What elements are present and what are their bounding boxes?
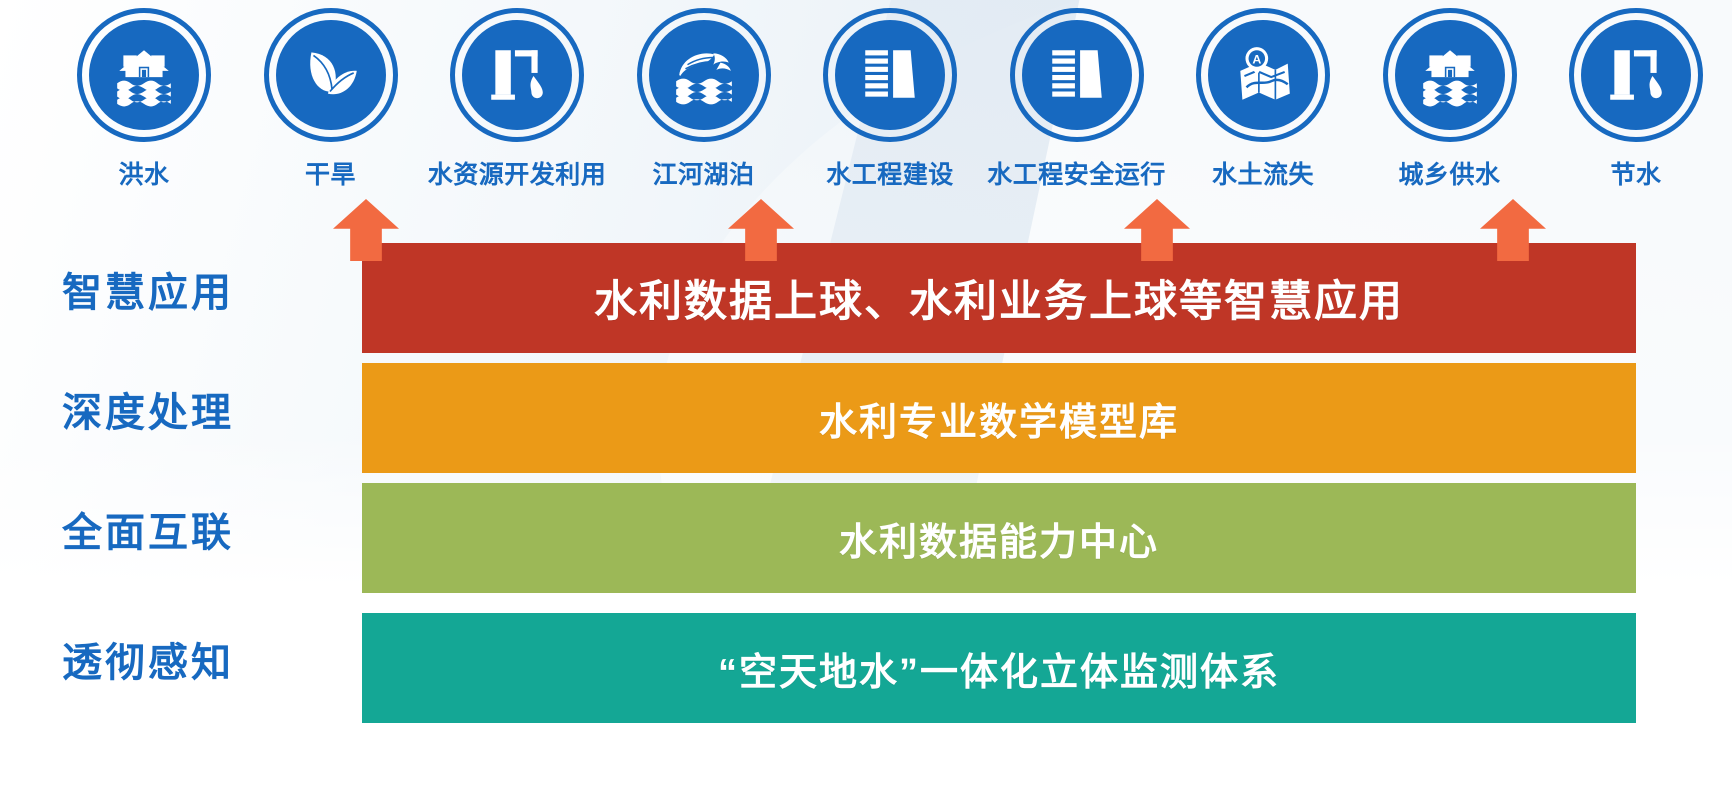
domain-item-water-project-safety[interactable]: 水工程安全运行 <box>993 8 1161 191</box>
icon-disc <box>1395 20 1505 130</box>
domain-label: 水土流失 <box>1212 155 1314 191</box>
layer-bar-text: “空天地水”一体化立体监测体系 <box>718 641 1280 696</box>
two-leaves-icon <box>298 42 364 108</box>
domain-label: 水资源开发利用 <box>428 155 607 191</box>
domain-item-flood[interactable]: 洪水 <box>60 8 228 191</box>
domain-item-water-resource-development[interactable]: 水资源开发利用 <box>433 8 601 191</box>
layer-label-thorough-perception: 透彻感知 <box>62 630 234 688</box>
domain-label: 干旱 <box>305 155 356 191</box>
icon-ring <box>77 8 211 142</box>
domain-label: 洪水 <box>118 155 169 191</box>
domain-item-soil-erosion[interactable]: A 水土流失 <box>1179 8 1347 191</box>
domain-item-rivers-lakes[interactable]: 江河湖泊 <box>620 8 788 191</box>
domain-item-urban-rural-water-supply[interactable]: 城乡供水 <box>1366 8 1534 191</box>
icon-disc: A <box>1208 20 1318 130</box>
water-resources-architecture-diagram: 洪水 干旱 <box>0 0 1732 800</box>
domain-item-drought[interactable]: 干旱 <box>247 8 415 191</box>
domain-item-water-project-construction[interactable]: 水工程建设 <box>806 8 974 191</box>
layer-bar-smart-application[interactable]: 水利数据上球、水利业务上球等智慧应用 <box>362 243 1636 353</box>
domain-label: 水工程建设 <box>826 155 954 191</box>
icon-ring <box>1010 8 1144 142</box>
icon-disc <box>462 20 572 130</box>
business-domain-icon-row: 洪水 干旱 <box>60 8 1720 198</box>
icon-ring <box>450 8 584 142</box>
water-faucet-drop-icon <box>1603 42 1669 108</box>
layer-bar-thorough-perception[interactable]: “空天地水”一体化立体监测体系 <box>362 613 1636 723</box>
layer-bar-full-interconnection[interactable]: 水利数据能力中心 <box>362 483 1636 593</box>
domain-item-water-conservation[interactable]: 节水 <box>1552 8 1720 191</box>
layer-label-smart-application: 智慧应用 <box>62 260 234 318</box>
icon-ring <box>637 8 771 142</box>
domain-label: 节水 <box>1610 155 1661 191</box>
icon-disc <box>89 20 199 130</box>
icon-disc <box>835 20 945 130</box>
icon-ring <box>823 8 957 142</box>
layer-label-deep-processing: 深度处理 <box>62 380 234 438</box>
domain-label: 城乡供水 <box>1398 155 1500 191</box>
svg-text:A: A <box>1252 53 1261 67</box>
icon-ring <box>1383 8 1517 142</box>
river-waves-fish-icon <box>671 42 737 108</box>
icon-ring <box>264 8 398 142</box>
domain-label: 水工程安全运行 <box>987 155 1166 191</box>
icon-disc <box>1022 20 1132 130</box>
flooded-house-icon <box>1417 42 1483 108</box>
icon-disc <box>276 20 386 130</box>
layer-label-full-interconnection: 全面互联 <box>62 500 234 558</box>
dam-construction-icon <box>857 42 923 108</box>
icon-ring <box>1569 8 1703 142</box>
flooded-house-icon <box>111 42 177 108</box>
layer-bar-text: 水利数据上球、水利业务上球等智慧应用 <box>594 267 1404 329</box>
icon-ring: A <box>1196 8 1330 142</box>
dam-safety-icon <box>1044 42 1110 108</box>
icon-disc <box>1581 20 1691 130</box>
water-faucet-drop-icon <box>484 42 550 108</box>
layer-bar-text: 水利数据能力中心 <box>839 511 1159 566</box>
layer-bar-deep-processing[interactable]: 水利专业数学模型库 <box>362 363 1636 473</box>
map-pin-icon: A <box>1230 42 1296 108</box>
icon-disc <box>649 20 759 130</box>
layer-bar-text: 水利专业数学模型库 <box>819 391 1179 446</box>
domain-label: 江河湖泊 <box>652 155 754 191</box>
